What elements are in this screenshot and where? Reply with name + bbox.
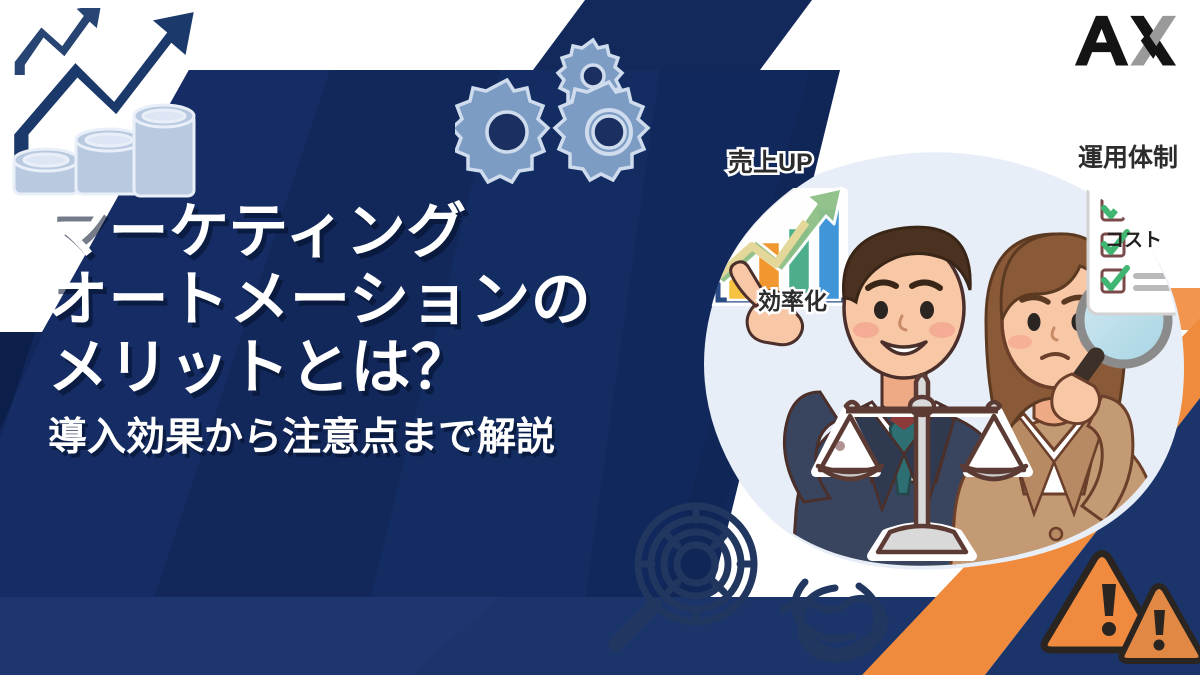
gears-icon — [455, 32, 680, 197]
logo-letter-a — [1075, 16, 1128, 66]
subtitle: 導入効果から注意点まで解説 — [48, 417, 668, 460]
title-line-3: メリットとは？ — [48, 334, 668, 402]
coin-stack-small — [14, 149, 78, 194]
gear-large-left — [455, 80, 548, 182]
illustration: 売上UP 効率化 運用体制 コスト — [700, 130, 1200, 600]
title-line-2: オートメーションの — [48, 266, 668, 334]
ax-logo[interactable] — [1073, 12, 1178, 70]
coin-stack-medium — [76, 129, 142, 194]
title-line-1: マーケティング — [48, 198, 668, 266]
headline-block: マーケティング オートメーションの メリットとは？ 導入効果から注意点まで解説 — [48, 198, 668, 460]
coin-stack-large — [134, 105, 194, 196]
label-sales-up: 売上UP — [728, 143, 813, 179]
label-cost: コスト — [1105, 225, 1162, 252]
label-efficiency: 効率化 — [758, 282, 827, 316]
coin-stack-icon — [6, 88, 206, 213]
kv-banner: マーケティング オートメーションの メリットとは？ 導入効果から注意点まで解説 — [0, 0, 1200, 675]
label-operation-system: 運用体制 — [1078, 138, 1178, 174]
logo-letter-x — [1130, 16, 1176, 66]
